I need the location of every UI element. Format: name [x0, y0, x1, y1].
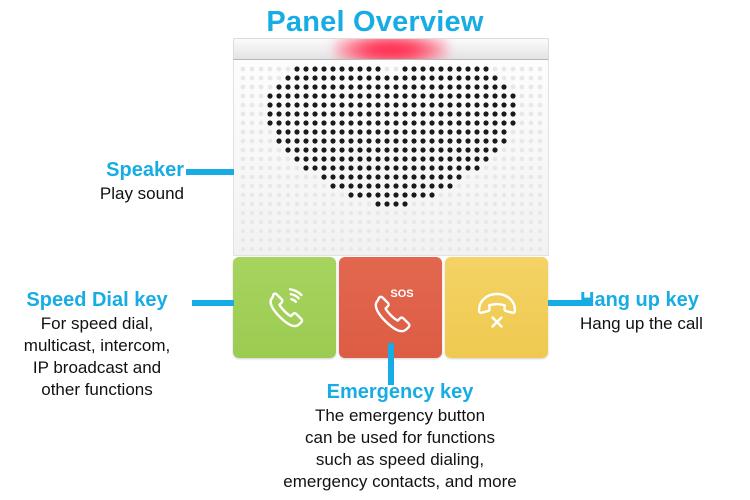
- phone-ring-icon: [258, 281, 312, 335]
- callout-speed-dial-heading: Speed Dial key: [0, 288, 194, 313]
- callout-speaker-heading: Speaker: [0, 158, 218, 183]
- callout-emergency-heading: Emergency key: [250, 380, 550, 405]
- callout-hang-up: Hang up key Hang up the call: [580, 288, 750, 335]
- callout-hang-up-description: Hang up the call: [580, 313, 750, 335]
- callout-speed-dial: Speed Dial key For speed dial, multicast…: [0, 288, 228, 401]
- panel-overview-figure: Panel Overview: [0, 0, 750, 500]
- callout-emergency-description: The emergency button can be used for fun…: [250, 405, 550, 493]
- speed-dial-button[interactable]: [233, 257, 336, 358]
- leader-line-emergency: [388, 343, 394, 385]
- speaker-grille-dots: [234, 60, 549, 256]
- phone-hangup-icon: [470, 281, 524, 335]
- status-led-glow: [334, 38, 447, 60]
- status-led-strip: [233, 38, 549, 60]
- speaker-grille: [233, 60, 549, 256]
- phone-sos-icon: SOS: [364, 281, 418, 335]
- callout-speaker-description: Play sound: [0, 183, 218, 205]
- callout-hang-up-heading: Hang up key: [580, 288, 750, 313]
- callout-speed-dial-description: For speed dial, multicast, intercom, IP …: [0, 313, 194, 401]
- sos-badge-label: SOS: [390, 288, 413, 300]
- intercom-panel: SOS: [233, 38, 549, 358]
- page-title: Panel Overview: [0, 6, 750, 39]
- hang-up-button[interactable]: [445, 257, 548, 358]
- callout-emergency: Emergency key The emergency button can b…: [250, 380, 550, 493]
- callout-speaker: Speaker Play sound: [0, 158, 232, 205]
